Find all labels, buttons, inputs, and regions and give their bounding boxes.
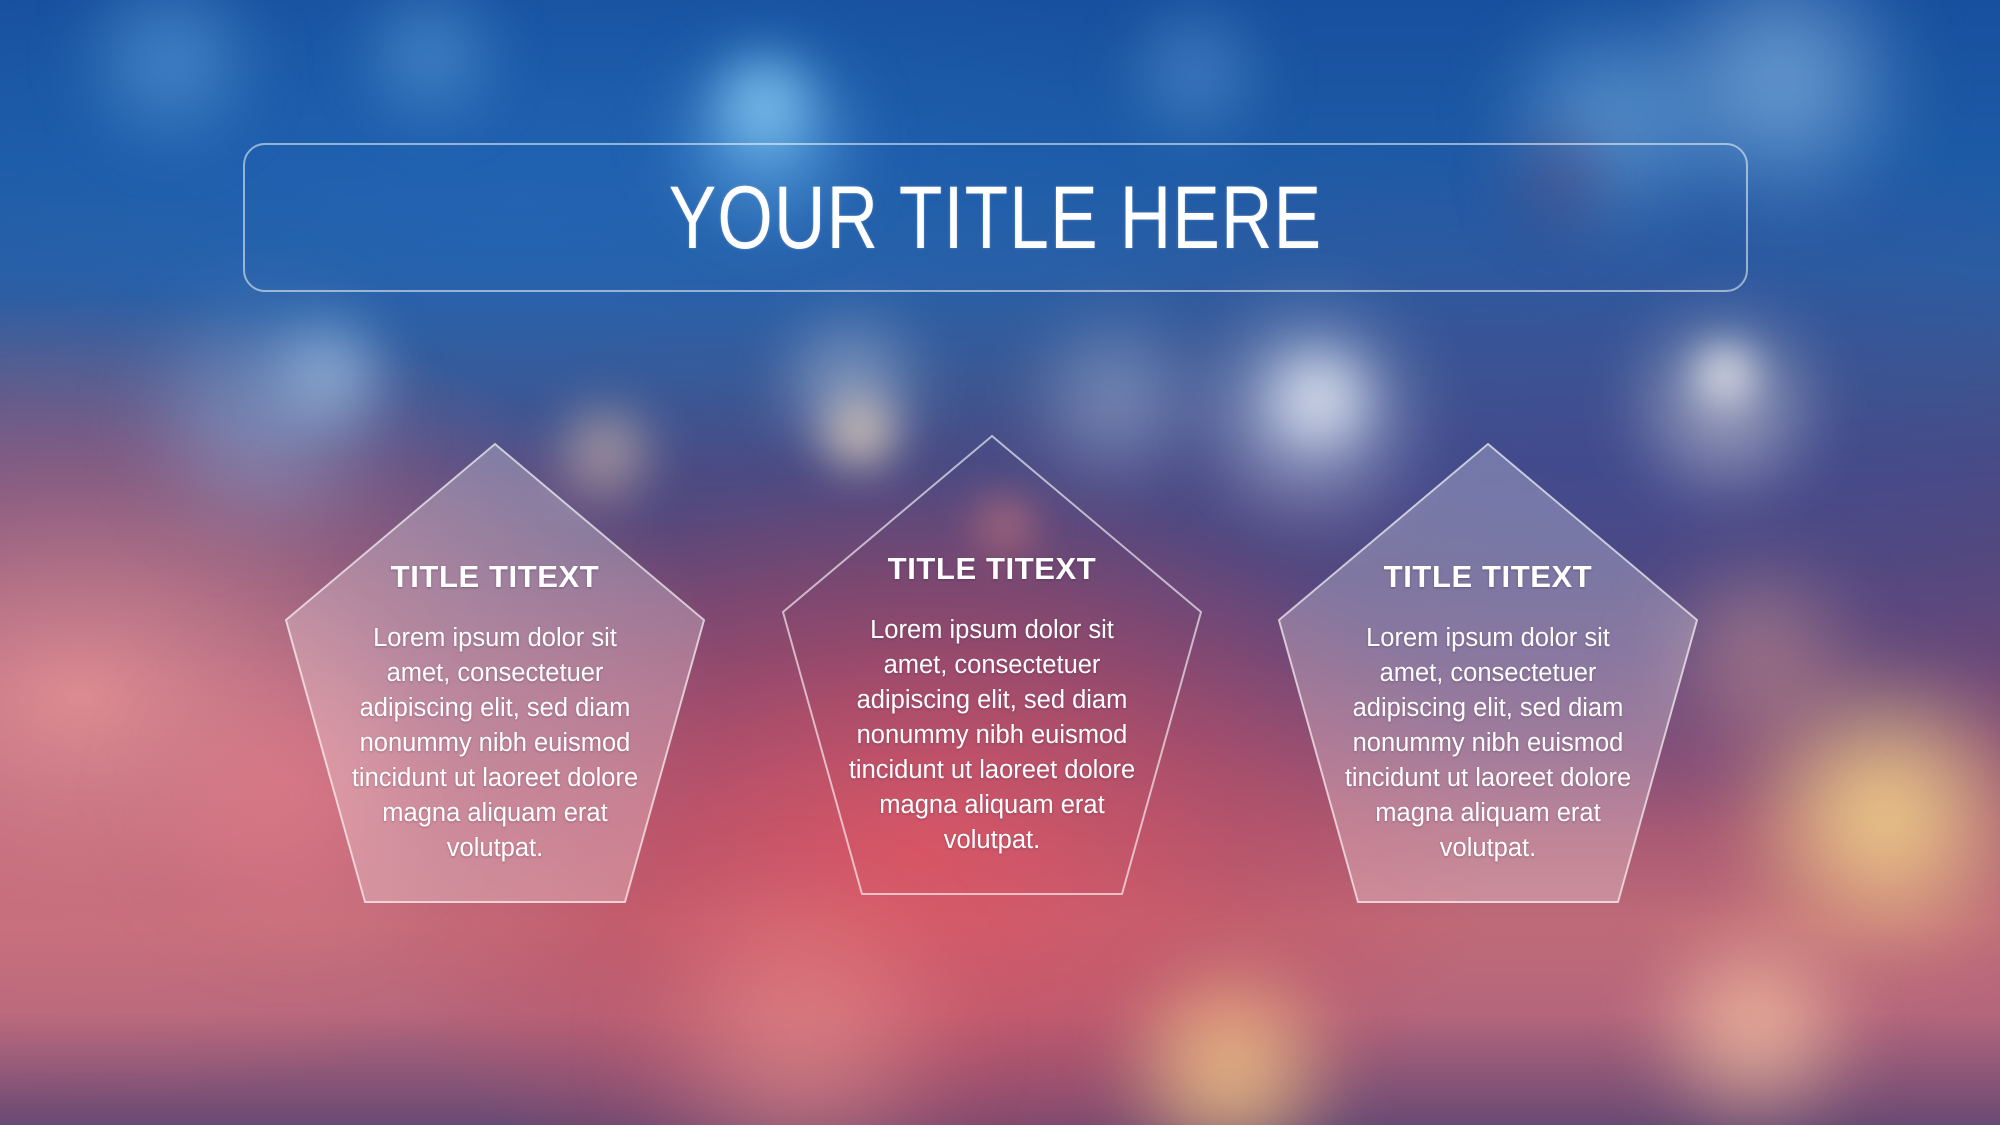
page-title: YOUR TITLE HERE	[669, 173, 1323, 262]
panel-heading: TITLE TITEXT	[782, 435, 1202, 587]
pentagon-content-1: TITLE TITEXT Lorem ipsum dolor sit amet,…	[285, 443, 705, 866]
panel-heading: TITLE TITEXT	[285, 443, 705, 595]
bokeh-light	[255, 300, 405, 445]
presentation-slide: YOUR TITLE HERE TITLE TITEXT Lorem ipsum…	[0, 0, 2000, 1125]
bokeh-light	[1680, 330, 1770, 418]
pentagon-panel-3[interactable]: TITLE TITEXT Lorem ipsum dolor sit amet,…	[1278, 443, 1698, 903]
pentagon-content-3: TITLE TITEXT Lorem ipsum dolor sit amet,…	[1278, 443, 1698, 866]
pentagon-panel-1[interactable]: TITLE TITEXT Lorem ipsum dolor sit amet,…	[285, 443, 705, 903]
panel-heading: TITLE TITEXT	[1278, 443, 1698, 595]
panel-body-text: Lorem ipsum dolor sit amet, consectetuer…	[1343, 621, 1633, 866]
pentagon-panel-2[interactable]: TITLE TITEXT Lorem ipsum dolor sit amet,…	[782, 435, 1202, 895]
panel-body-text: Lorem ipsum dolor sit amet, consectetuer…	[350, 621, 640, 866]
pentagon-content-2: TITLE TITEXT Lorem ipsum dolor sit amet,…	[782, 435, 1202, 858]
panel-body-text: Lorem ipsum dolor sit amet, consectetuer…	[847, 613, 1137, 858]
title-plate: YOUR TITLE HERE	[243, 143, 1748, 292]
bokeh-light	[1255, 335, 1385, 460]
